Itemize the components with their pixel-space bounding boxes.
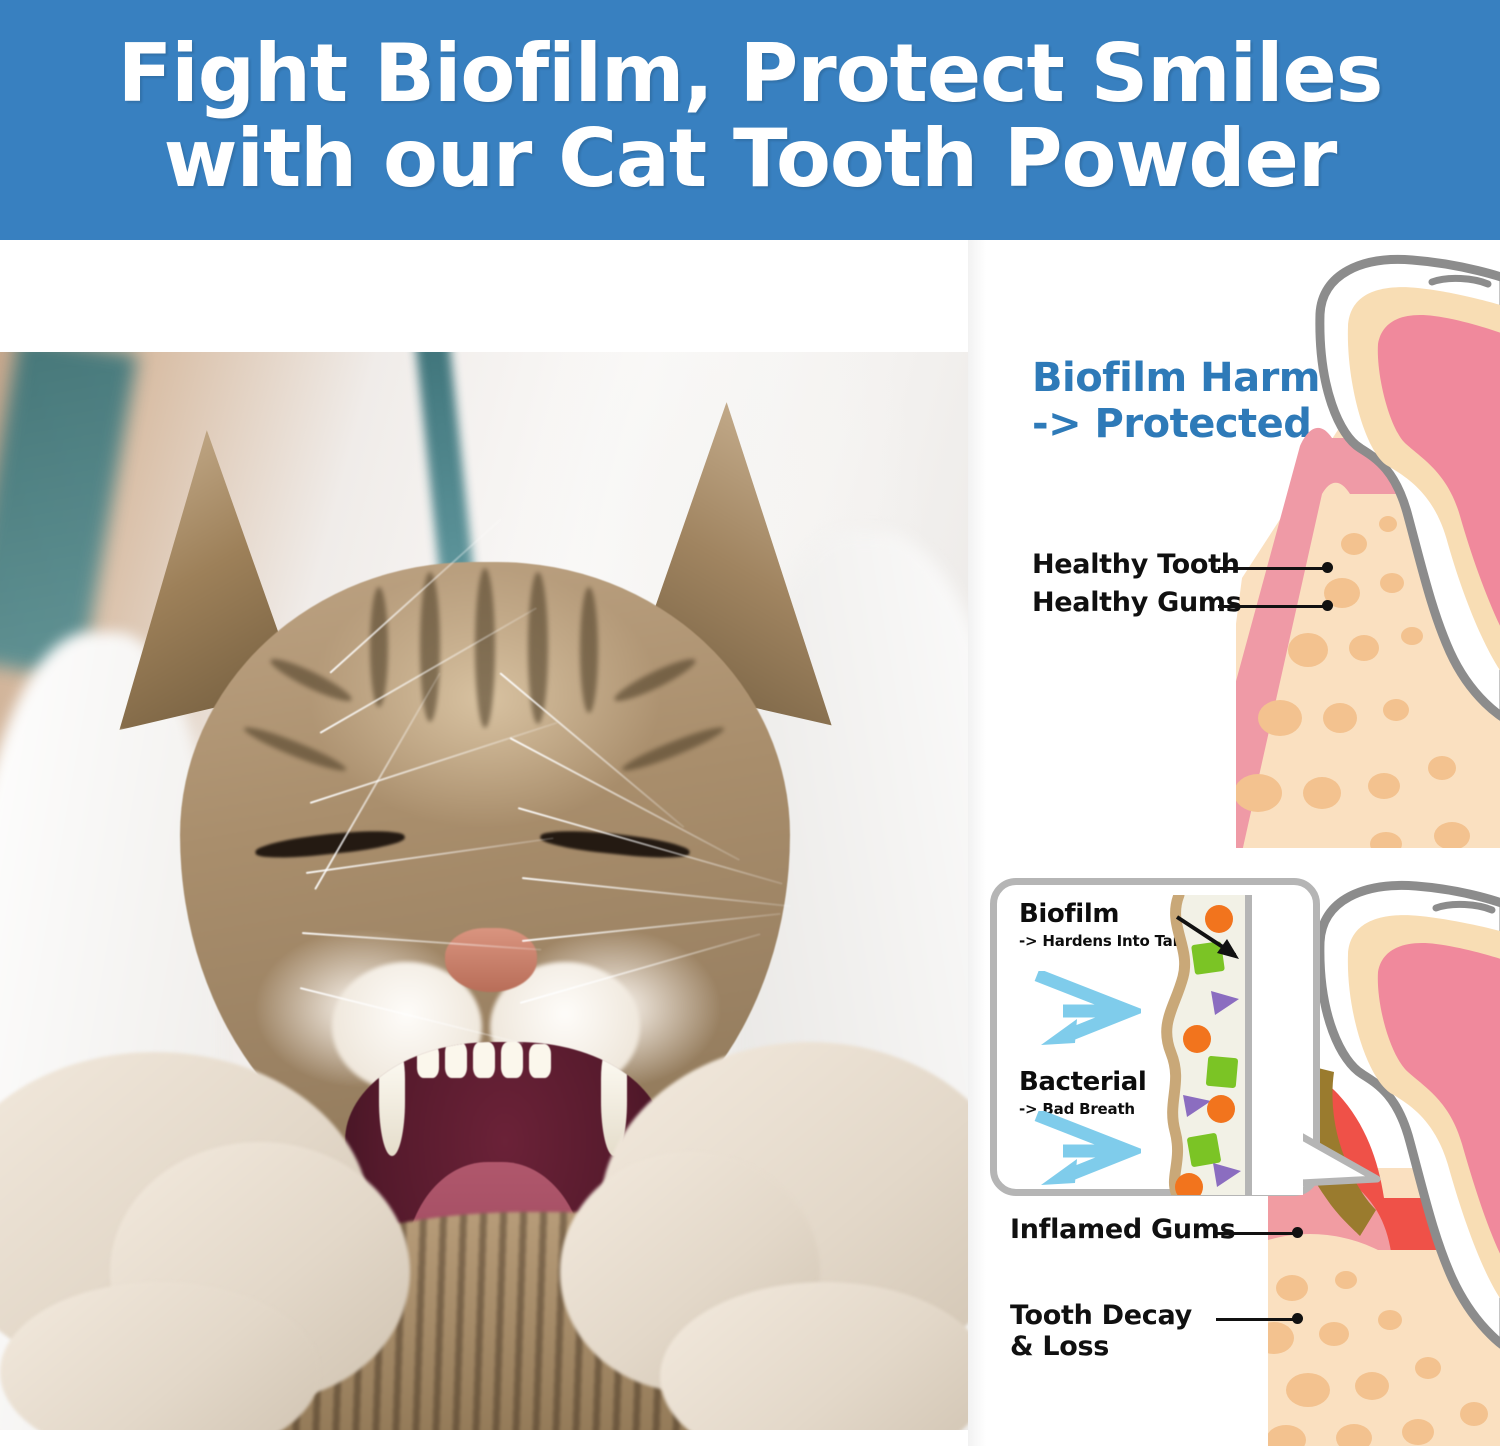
healthy-tooth-illustration — [1236, 248, 1500, 852]
leader-dot-inflamed-gums — [1292, 1227, 1303, 1238]
biofilm-pointer-icon — [1173, 911, 1257, 971]
leader-dot-healthy-tooth — [1322, 562, 1333, 573]
biofilm-callout: Biofilm -> Hardens Into Tartar Bacterial… — [990, 878, 1320, 1196]
callout-title-biofilm: Biofilm — [1019, 899, 1119, 929]
cat-incisor — [473, 1042, 495, 1078]
cat-photo — [0, 352, 970, 1430]
diagram-panel-diseased: Biofilm -> Hardens Into Tartar Bacterial… — [968, 848, 1500, 1446]
bacteria-square — [1187, 1133, 1222, 1168]
label-tooth-decay: Tooth Decay & Loss — [1010, 1300, 1192, 1363]
bacteria-square — [1206, 1056, 1239, 1089]
leader-line-healthy-gums — [1218, 605, 1326, 608]
panel-left-shadow — [968, 848, 986, 1446]
leader-line-tooth-decay — [1216, 1318, 1296, 1321]
leader-line-healthy-tooth — [1218, 567, 1326, 570]
cat-nose — [445, 928, 537, 992]
cat-incisor — [445, 1042, 467, 1078]
fur-stripe — [370, 587, 388, 707]
leader-dot-tooth-decay — [1292, 1313, 1303, 1324]
bacteria-circle — [1207, 1095, 1235, 1123]
label-healthy-tooth: Healthy Tooth — [1032, 549, 1240, 580]
leader-dot-healthy-gums — [1322, 600, 1333, 611]
cat-canine-tooth — [379, 1046, 405, 1156]
cat-incisor — [529, 1044, 551, 1078]
fur-stripe — [580, 587, 598, 713]
biofilm-arrow-icon — [1033, 971, 1141, 1051]
leader-line-inflamed-gums — [1216, 1232, 1296, 1235]
label-healthy-gums: Healthy Gums — [1032, 587, 1242, 618]
header-banner: Fight Biofilm, Protect Smiles with our C… — [0, 0, 1500, 240]
page-title: Fight Biofilm, Protect Smiles with our C… — [118, 32, 1383, 202]
diagram-panel-healthy: Biofilm Harm -> Protected — [968, 240, 1500, 852]
bacteria-circle — [1183, 1025, 1211, 1053]
fur-stripe — [528, 572, 548, 724]
cat-incisor — [417, 1044, 439, 1078]
bacterial-arrow-icon — [1033, 1111, 1141, 1191]
fur-stripe — [475, 568, 495, 728]
label-inflamed-gums: Inflamed Gums — [1010, 1214, 1235, 1245]
panel-left-shadow — [968, 240, 986, 852]
cat-incisor — [501, 1042, 523, 1078]
